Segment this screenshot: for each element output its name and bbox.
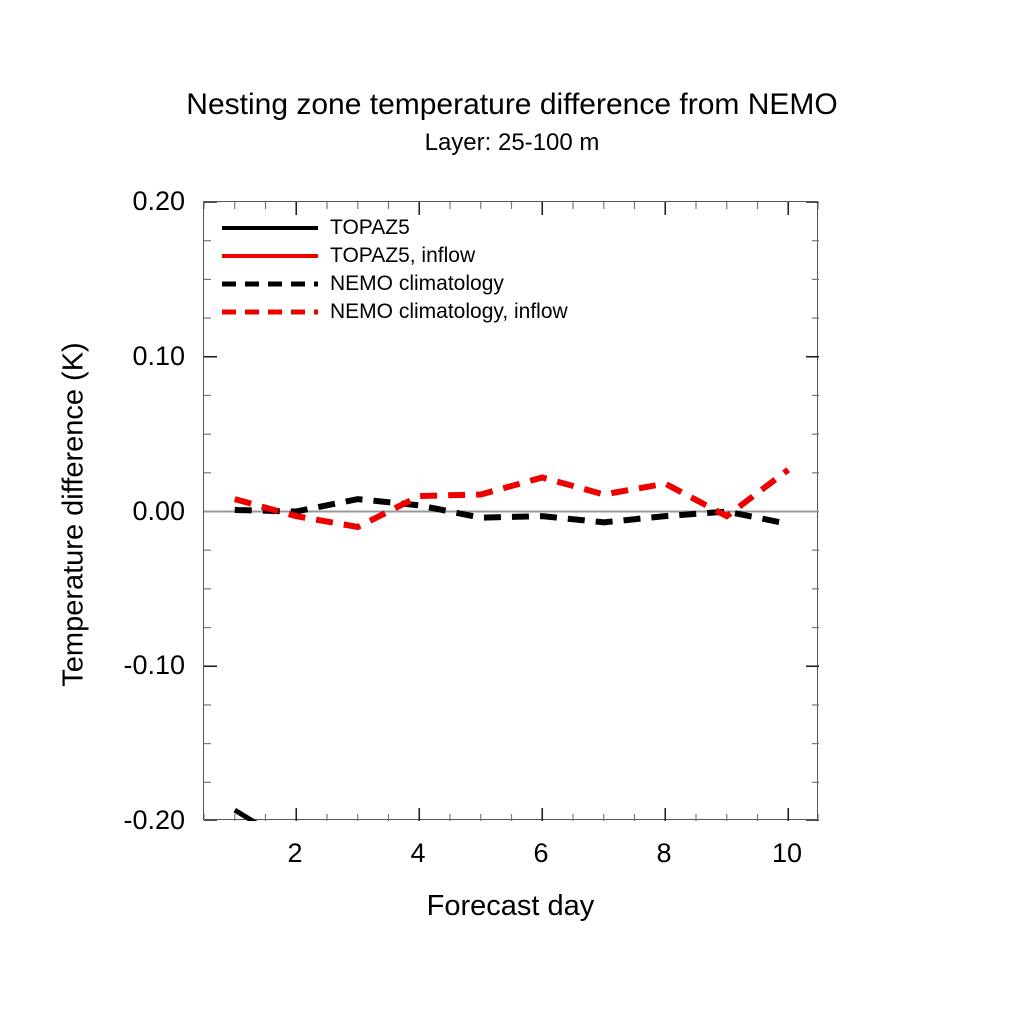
y-tick-label-1: 0.10: [95, 341, 185, 372]
y-tick-label-0: 0.20: [95, 186, 185, 217]
legend-label-0: TOPAZ5: [330, 216, 410, 240]
x-axis-label: Forecast day: [203, 890, 818, 923]
legend-line-icon-0: [222, 219, 318, 237]
legend-line-icon-3: [222, 303, 318, 321]
y-tick-label-3: -0.10: [95, 650, 185, 681]
legend-item-3[interactable]: NEMO climatology, inflow: [222, 298, 642, 326]
legend-label-2: NEMO climatology: [330, 272, 504, 296]
chart-figure: Nesting zone temperature difference from…: [0, 0, 1024, 1024]
y-tick-label-2: 0.00: [95, 496, 185, 527]
series-line-0: [235, 810, 266, 821]
legend-line-icon-1: [222, 247, 318, 265]
chart-subtitle: Layer: 25-100 m: [0, 128, 1024, 158]
legend-item-0[interactable]: TOPAZ5: [222, 214, 642, 242]
x-tick-label-1: 4: [383, 838, 453, 869]
chart-title: Nesting zone temperature difference from…: [0, 88, 1024, 122]
legend-item-2[interactable]: NEMO climatology: [222, 270, 642, 298]
title-block: Nesting zone temperature difference from…: [0, 88, 1024, 158]
x-tick-label-0: 2: [260, 838, 330, 869]
data-series-group: [235, 470, 789, 821]
legend-label-3: NEMO climatology, inflow: [330, 300, 568, 324]
legend-item-1[interactable]: TOPAZ5, inflow: [222, 242, 642, 270]
series-line-3: [235, 470, 789, 527]
x-tick-label-4: 10: [752, 838, 822, 869]
x-tick-label-3: 8: [629, 838, 699, 869]
legend-line-icon-2: [222, 275, 318, 293]
y-axis-label: Temperature difference (K): [58, 265, 91, 765]
x-tick-label-2: 6: [506, 838, 576, 869]
legend-label-1: TOPAZ5, inflow: [330, 244, 475, 268]
chart-legend: TOPAZ5 TOPAZ5, inflow NEMO climatology: [222, 214, 642, 326]
y-tick-label-4: -0.20: [95, 805, 185, 836]
